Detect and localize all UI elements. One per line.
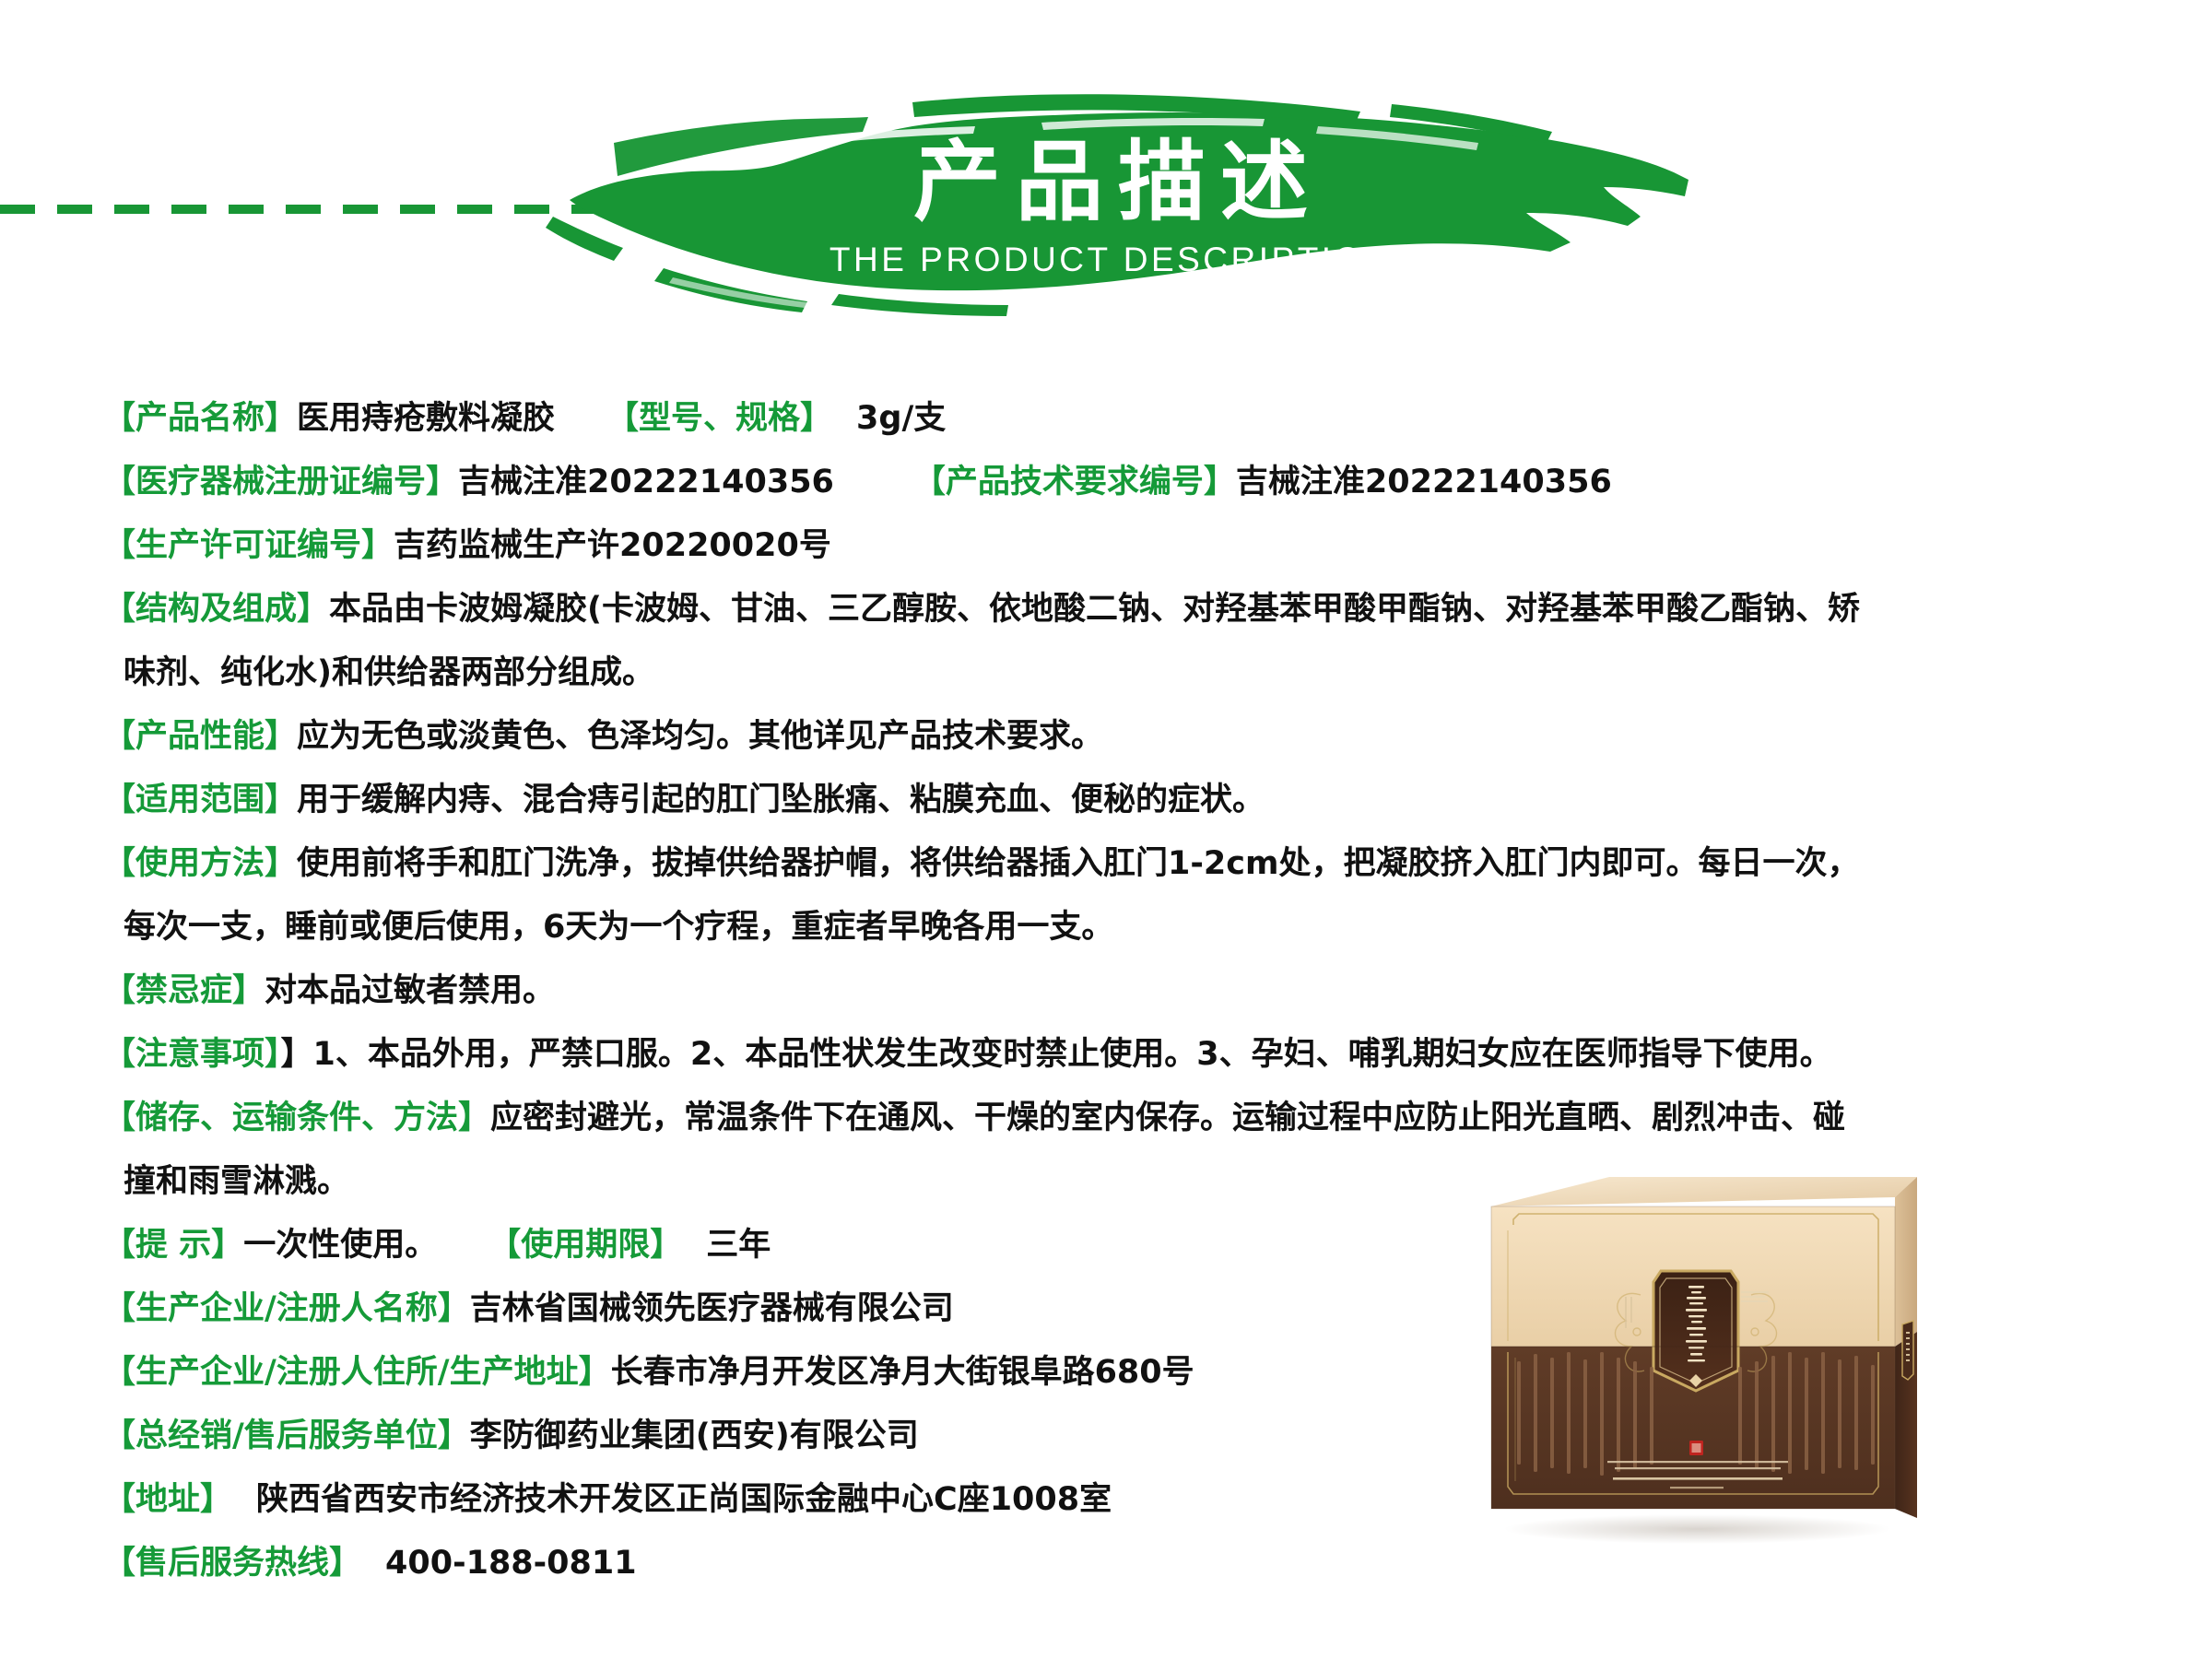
label-product-name: 【产品名称】 [103, 400, 297, 437]
product-box-image [1456, 1157, 1954, 1544]
decorative-dashed-rule [0, 205, 608, 214]
value-hotline: 400-188-0811 [385, 1545, 637, 1582]
value-device-registration: 吉械注准20222140356 [458, 464, 834, 500]
value-manufacturer-address: 长春市净月开发区净月大街银阜路680号 [611, 1354, 1194, 1391]
spec-row-storage: 【储存、运输条件、方法】应密封避光，常温条件下在通风、干燥的室内保存。运输过程中… [103, 1087, 2159, 1150]
value-usage-line1: 使用前将手和肛门洗净，拔掉供给器护帽，将供给器插入肛门1-2cm处，把凝胶挤入肛… [297, 845, 1859, 882]
label-composition: 【结构及组成】 [103, 591, 329, 628]
label-scope: 【适用范围】 [103, 782, 297, 818]
spec-row-registration: 【医疗器械注册证编号】吉械注准20222140356【产品技术要求编号】吉械注准… [103, 451, 2159, 514]
label-storage: 【储存、运输条件、方法】 [103, 1100, 490, 1136]
label-production-license: 【生产许可证编号】 [103, 527, 394, 564]
value-shelf-life: 三年 [706, 1227, 771, 1264]
label-caution: 【注意事项】 [103, 1036, 281, 1073]
label-manufacturer-address: 【生产企业/注册人住所/生产地址】 [103, 1354, 611, 1391]
value-distributor: 李防御药业集团(西安)有限公司 [470, 1418, 919, 1454]
label-contraindication: 【禁忌症】 [103, 972, 265, 1009]
value-composition-line1: 本品由卡波姆凝胶(卡波姆、甘油、三乙醇胺、依地酸二钠、对羟基苯甲酸甲酯钠、对羟基… [329, 591, 1860, 628]
value-contraindication: 对本品过敏者禁用。 [265, 972, 555, 1009]
value-tech-requirement: 吉械注准20222140356 [1236, 464, 1612, 500]
value-usage-line2: 每次一支，睡前或便后使用，6天为一个疗程，重症者早晚各用一支。 [124, 909, 1113, 946]
spec-row-production-license: 【生产许可证编号】吉药监械生产许20220020号 [103, 514, 2159, 578]
label-model: 【型号、规格】 [606, 400, 832, 437]
label-address: 【地址】 [103, 1481, 232, 1518]
value-performance: 应为无色或淡黄色、色泽均匀。其他详见产品技术要求。 [297, 718, 1103, 755]
value-address: 陕西省西安市经济技术开发区正尚国际金融中心C座1008室 [256, 1481, 1112, 1518]
value-caution: 】1、本品外用，严禁口服。2、本品性状发生改变时禁止使用。3、孕妇、哺乳期妇女应… [281, 1036, 1832, 1073]
spec-row-caution: 【注意事项】】1、本品外用，严禁口服。2、本品性状发生改变时禁止使用。3、孕妇、… [103, 1023, 2159, 1087]
label-shelf-life: 【使用期限】 [488, 1227, 682, 1264]
label-distributor: 【总经销/售后服务单位】 [103, 1418, 470, 1454]
value-composition-line2: 味剂、纯化水)和供给器两部分组成。 [124, 654, 654, 691]
value-tip: 一次性使用。 [243, 1227, 437, 1264]
spec-row-usage-cont: 每次一支，睡前或便后使用，6天为一个疗程，重症者早晚各用一支。 [103, 896, 2159, 959]
spec-row-performance: 【产品性能】应为无色或淡黄色、色泽均匀。其他详见产品技术要求。 [103, 705, 2159, 769]
spec-row-scope: 【适用范围】用于缓解内痔、混合痔引起的肛门坠胀痛、粘膜充血、便秘的症状。 [103, 769, 2159, 832]
value-product-name: 医用痔疮敷料凝胶 [297, 400, 555, 437]
spec-row-composition: 【结构及组成】本品由卡波姆凝胶(卡波姆、甘油、三乙醇胺、依地酸二钠、对羟基苯甲酸… [103, 578, 2159, 641]
page-header: 产品描述 THE PRODUCT DESCRIPTION [0, 0, 2212, 341]
spec-row-usage: 【使用方法】使用前将手和肛门洗净，拔掉供给器护帽，将供给器插入肛门1-2cm处，… [103, 832, 2159, 896]
label-hotline: 【售后服务热线】 [103, 1545, 361, 1582]
value-model: 3g/支 [856, 400, 946, 437]
value-storage-line2: 撞和雨雪淋溅。 [124, 1163, 349, 1200]
label-usage: 【使用方法】 [103, 845, 297, 882]
value-scope: 用于缓解内痔、混合痔引起的肛门坠胀痛、粘膜充血、便秘的症状。 [297, 782, 1265, 818]
label-tip: 【提 示】 [103, 1227, 243, 1264]
spec-row-composition-cont: 味剂、纯化水)和供给器两部分组成。 [103, 641, 2159, 705]
label-manufacturer: 【生产企业/注册人名称】 [103, 1290, 470, 1327]
spec-row-contraindication: 【禁忌症】对本品过敏者禁用。 [103, 959, 2159, 1023]
spec-row-product-name: 【产品名称】医用痔疮敷料凝胶【型号、规格】3g/支 [103, 387, 2159, 451]
label-tech-requirement: 【产品技术要求编号】 [913, 464, 1236, 500]
value-manufacturer: 吉林省国械领先医疗器械有限公司 [470, 1290, 954, 1327]
value-storage-line1: 应密封避光，常温条件下在通风、干燥的室内保存。运输过程中应防止阳光直晒、剧烈冲击… [490, 1100, 1845, 1136]
label-performance: 【产品性能】 [103, 718, 297, 755]
label-device-registration: 【医疗器械注册证编号】 [103, 464, 458, 500]
brush-stroke-banner [525, 88, 1696, 318]
product-description-page: 产品描述 THE PRODUCT DESCRIPTION 【产品名称】医用痔疮敷… [0, 0, 2212, 1659]
value-production-license: 吉药监械生产许20220020号 [394, 527, 831, 564]
